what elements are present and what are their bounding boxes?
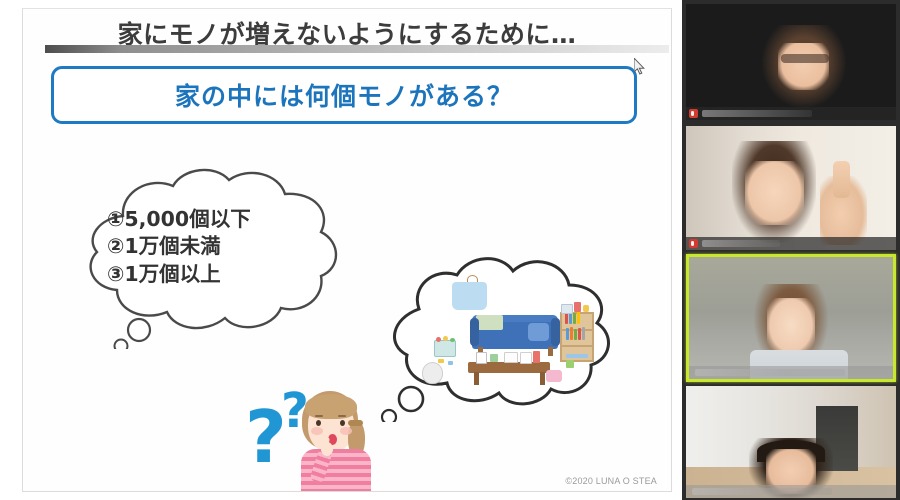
sofa-blanket bbox=[476, 315, 503, 330]
table-leg-right bbox=[540, 372, 545, 385]
participant-name-4 bbox=[692, 488, 832, 495]
participant-name-bar-2 bbox=[686, 237, 896, 250]
participant-name-1 bbox=[702, 110, 812, 117]
answer-option-2: ②1万個未満 bbox=[107, 233, 337, 260]
video-tile-3[interactable] bbox=[686, 254, 896, 382]
hanging-shirt-icon bbox=[452, 282, 487, 310]
girl-hair-tie bbox=[348, 420, 363, 426]
sofa-arm-right bbox=[551, 318, 560, 346]
girl-eyebrow-right bbox=[338, 415, 346, 417]
participant-name-bar-1 bbox=[686, 107, 896, 120]
participant-name-bar-4 bbox=[686, 485, 896, 498]
shared-screen-region[interactable]: 家にモノが増えないようにするために… 家の中には何個モノがある？ ①5,000個… bbox=[0, 0, 682, 500]
answer-list: ①5,000個以下 ②1万個未満 ③1万個以上 bbox=[107, 206, 337, 288]
video-tile-2[interactable] bbox=[686, 126, 896, 250]
raised-finger-icon bbox=[833, 161, 850, 198]
participant-name-bar-3 bbox=[689, 366, 893, 379]
girl-eye-right bbox=[340, 420, 345, 426]
question-box: 家の中には何個モノがある？ bbox=[51, 66, 637, 124]
mic-muted-icon bbox=[689, 239, 698, 248]
thinking-girl-illustration bbox=[288, 387, 384, 492]
answer-option-1: ①5,000個以下 bbox=[107, 206, 337, 233]
sofa-arm-left bbox=[470, 318, 479, 346]
girl-bangs bbox=[305, 394, 357, 419]
glasses-icon bbox=[781, 54, 829, 63]
question-box-text: 家の中には何個モノがある？ bbox=[175, 77, 513, 113]
girl-cheek-left bbox=[311, 427, 323, 435]
girl-cheek-right bbox=[340, 427, 352, 435]
shelf-top-items bbox=[561, 304, 573, 314]
copyright-notice: ©2020 LUNA O STEA bbox=[565, 476, 657, 486]
video-feed-1 bbox=[686, 4, 896, 120]
bookshelf bbox=[560, 312, 594, 362]
mic-muted-icon bbox=[689, 109, 698, 118]
table-leg-left bbox=[474, 372, 479, 385]
mouse-pointer-icon bbox=[634, 58, 646, 76]
video-tile-1[interactable] bbox=[686, 4, 896, 120]
answer-option-3: ③1万個以上 bbox=[107, 261, 337, 288]
girl-eyebrow-left bbox=[315, 415, 323, 417]
cluttered-room-illustration bbox=[420, 282, 585, 387]
sofa-leg-right bbox=[548, 347, 553, 356]
trash-bag bbox=[422, 362, 443, 384]
presentation-slide: 家にモノが増えないようにするために… 家の中には何個モノがある？ ①5,000個… bbox=[22, 8, 672, 492]
participant-name-3 bbox=[695, 369, 845, 376]
video-feed-3 bbox=[689, 257, 893, 379]
title-divider bbox=[45, 45, 669, 53]
participant-name-2 bbox=[702, 240, 780, 247]
video-feed-4 bbox=[686, 386, 896, 498]
toy-box bbox=[434, 340, 456, 357]
girl-eye-left bbox=[316, 420, 321, 426]
room-thought-cloud bbox=[375, 247, 625, 422]
meeting-screen-share-window: 家にモノが増えないようにするために… 家の中には何個モノがある？ ①5,000個… bbox=[0, 0, 900, 500]
sofa-cushion bbox=[528, 323, 549, 341]
answers-thought-cloud: ①5,000個以下 ②1万個未満 ③1万個以上 bbox=[63, 164, 363, 349]
video-tile-4[interactable] bbox=[686, 386, 896, 498]
participant-filmstrip bbox=[682, 0, 900, 500]
video-feed-2 bbox=[686, 126, 896, 250]
